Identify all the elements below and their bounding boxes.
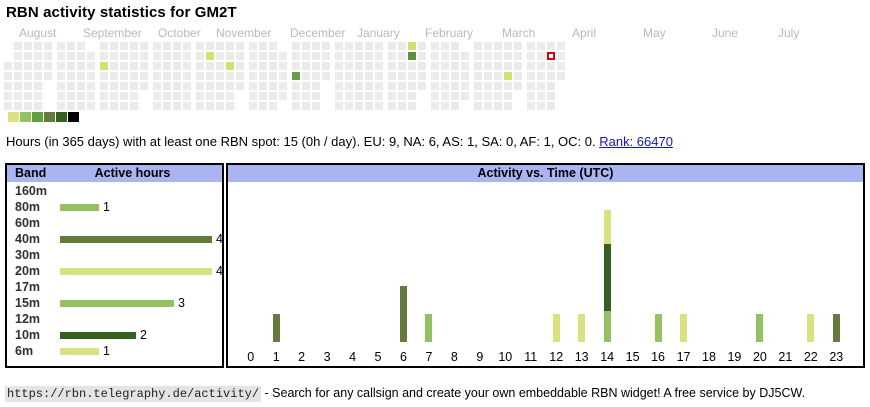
heatmap-cell[interactable]: [365, 72, 373, 80]
heatmap-cell[interactable]: [206, 62, 214, 70]
heatmap-cell[interactable]: [24, 42, 32, 50]
heatmap-cell[interactable]: [183, 92, 191, 100]
heatmap-cell[interactable]: [130, 42, 138, 50]
heatmap-cell[interactable]: [388, 62, 396, 70]
heatmap-cell[interactable]: [474, 82, 482, 90]
heatmap-cell[interactable]: [67, 72, 75, 80]
heatmap-cell[interactable]: [504, 102, 512, 110]
heatmap-cell[interactable]: [484, 52, 492, 60]
heatmap-cell[interactable]: [183, 52, 191, 60]
heatmap-cell[interactable]: [345, 92, 353, 100]
heatmap-cell[interactable]: [67, 42, 75, 50]
heatmap-cell[interactable]: [527, 52, 535, 60]
heatmap-cell[interactable]: [226, 52, 234, 60]
heatmap-cell[interactable]: [302, 82, 310, 90]
heatmap-cell[interactable]: [183, 72, 191, 80]
heatmap-cell[interactable]: [398, 52, 406, 60]
heatmap-cell[interactable]: [206, 82, 214, 90]
heatmap-cell[interactable]: [44, 52, 52, 60]
heatmap-cell[interactable]: [110, 102, 118, 110]
heatmap-cell[interactable]: [110, 72, 118, 80]
heatmap-cell[interactable]: [474, 52, 482, 60]
heatmap-cell[interactable]: [302, 102, 310, 110]
heatmap-cell[interactable]: [173, 62, 181, 70]
heatmap-cell[interactable]: [67, 62, 75, 70]
heatmap-cell[interactable]: [375, 42, 383, 50]
heatmap-grid[interactable]: [0, 42, 870, 104]
heatmap-cell[interactable]: [226, 62, 234, 70]
heatmap-cell[interactable]: [398, 102, 406, 110]
heatmap-cell[interactable]: [527, 102, 535, 110]
heatmap-cell[interactable]: [504, 42, 512, 50]
heatmap-cell[interactable]: [173, 92, 181, 100]
activity-bar[interactable]: [655, 314, 662, 342]
heatmap-cell[interactable]: [484, 82, 492, 90]
heatmap-cell[interactable]: [345, 62, 353, 70]
heatmap-cell[interactable]: [67, 92, 75, 100]
heatmap-cell[interactable]: [418, 52, 426, 60]
heatmap-cell[interactable]: [206, 102, 214, 110]
heatmap-cell[interactable]: [398, 82, 406, 90]
heatmap-cell[interactable]: [67, 52, 75, 60]
heatmap-cell[interactable]: [236, 72, 244, 80]
heatmap-cell[interactable]: [504, 92, 512, 100]
heatmap-cell[interactable]: [216, 102, 224, 110]
heatmap-cell[interactable]: [216, 82, 224, 90]
heatmap-cell[interactable]: [153, 42, 161, 50]
heatmap-cell[interactable]: [335, 92, 343, 100]
heatmap-cell[interactable]: [269, 42, 277, 50]
heatmap-cell[interactable]: [408, 82, 416, 90]
heatmap-cell[interactable]: [140, 82, 148, 90]
heatmap-cell[interactable]: [335, 102, 343, 110]
heatmap-cell[interactable]: [120, 102, 128, 110]
heatmap-cell[interactable]: [249, 72, 257, 80]
heatmap-cell[interactable]: [537, 62, 545, 70]
heatmap-cell[interactable]: [302, 42, 310, 50]
heatmap-cell[interactable]: [355, 62, 363, 70]
heatmap-cell[interactable]: [183, 42, 191, 50]
heatmap-cell[interactable]: [4, 102, 12, 110]
heatmap-cell[interactable]: [130, 102, 138, 110]
heatmap-cell[interactable]: [312, 62, 320, 70]
heatmap-cell[interactable]: [279, 82, 287, 90]
heatmap-cell[interactable]: [130, 92, 138, 100]
heatmap-cell[interactable]: [451, 72, 459, 80]
heatmap-cell[interactable]: [259, 62, 267, 70]
heatmap-cell[interactable]: [345, 72, 353, 80]
heatmap-cell[interactable]: [441, 102, 449, 110]
heatmap-cell[interactable]: [418, 82, 426, 90]
heatmap-cell[interactable]: [335, 72, 343, 80]
rank-link[interactable]: Rank: 66470: [599, 134, 673, 149]
heatmap-cell[interactable]: [431, 62, 439, 70]
activity-bar[interactable]: [833, 314, 840, 342]
activity-bar[interactable]: [425, 314, 432, 342]
heatmap-cell[interactable]: [140, 42, 148, 50]
heatmap-cell[interactable]: [34, 102, 42, 110]
heatmap-cell[interactable]: [216, 42, 224, 50]
heatmap-cell[interactable]: [120, 42, 128, 50]
heatmap-cell[interactable]: [236, 52, 244, 60]
heatmap-cell[interactable]: [153, 102, 161, 110]
heatmap-cell[interactable]: [4, 92, 12, 100]
heatmap-cell[interactable]: [484, 92, 492, 100]
heatmap-cell[interactable]: [87, 82, 95, 90]
heatmap-cell[interactable]: [226, 82, 234, 90]
heatmap-cell[interactable]: [14, 102, 22, 110]
heatmap-cell[interactable]: [514, 72, 522, 80]
heatmap-cell[interactable]: [14, 42, 22, 50]
heatmap-cell[interactable]: [504, 82, 512, 90]
heatmap-cell[interactable]: [408, 102, 416, 110]
heatmap-cell[interactable]: [345, 52, 353, 60]
heatmap-cell[interactable]: [537, 42, 545, 50]
heatmap-cell[interactable]: [355, 52, 363, 60]
heatmap-cell[interactable]: [441, 92, 449, 100]
heatmap-cell[interactable]: [206, 52, 214, 60]
heatmap-cell[interactable]: [14, 72, 22, 80]
heatmap-cell[interactable]: [451, 42, 459, 50]
heatmap-cell[interactable]: [388, 92, 396, 100]
heatmap-cell[interactable]: [249, 62, 257, 70]
heatmap-cell[interactable]: [24, 72, 32, 80]
heatmap-cell[interactable]: [484, 62, 492, 70]
heatmap-cell[interactable]: [130, 82, 138, 90]
heatmap-cell[interactable]: [269, 62, 277, 70]
heatmap-cell[interactable]: [375, 102, 383, 110]
heatmap-cell[interactable]: [173, 102, 181, 110]
heatmap-cell[interactable]: [120, 82, 128, 90]
heatmap-cell[interactable]: [302, 72, 310, 80]
heatmap-cell[interactable]: [302, 62, 310, 70]
heatmap-cell[interactable]: [34, 92, 42, 100]
heatmap-cell[interactable]: [494, 102, 502, 110]
heatmap-cell[interactable]: [355, 72, 363, 80]
heatmap-cell[interactable]: [44, 72, 52, 80]
heatmap-cell[interactable]: [153, 92, 161, 100]
heatmap-cell[interactable]: [388, 72, 396, 80]
heatmap-cell[interactable]: [312, 82, 320, 90]
heatmap-cell[interactable]: [120, 72, 128, 80]
heatmap-cell[interactable]: [312, 92, 320, 100]
heatmap-cell[interactable]: [547, 62, 555, 70]
heatmap-cell[interactable]: [110, 82, 118, 90]
heatmap-cell[interactable]: [398, 62, 406, 70]
heatmap-cell[interactable]: [474, 42, 482, 50]
heatmap-cell[interactable]: [4, 62, 12, 70]
heatmap-cell[interactable]: [87, 72, 95, 80]
heatmap-cell[interactable]: [474, 62, 482, 70]
activity-bar[interactable]: [680, 314, 687, 342]
heatmap-cell[interactable]: [87, 52, 95, 60]
heatmap-cell[interactable]: [474, 102, 482, 110]
heatmap-cell[interactable]: [100, 42, 108, 50]
heatmap-cell[interactable]: [173, 72, 181, 80]
heatmap-cell[interactable]: [322, 52, 330, 60]
heatmap-cell[interactable]: [461, 92, 469, 100]
heatmap-cell[interactable]: [226, 72, 234, 80]
heatmap-cell[interactable]: [484, 42, 492, 50]
heatmap-cell[interactable]: [173, 42, 181, 50]
heatmap-cell[interactable]: [259, 92, 267, 100]
heatmap-cell[interactable]: [355, 92, 363, 100]
heatmap-cell[interactable]: [418, 42, 426, 50]
heatmap-cell[interactable]: [335, 52, 343, 60]
heatmap-cell[interactable]: [504, 62, 512, 70]
heatmap-cell[interactable]: [527, 82, 535, 90]
heatmap-cell[interactable]: [87, 92, 95, 100]
heatmap-cell[interactable]: [279, 52, 287, 60]
heatmap-cell[interactable]: [249, 52, 257, 60]
heatmap-cell[interactable]: [140, 62, 148, 70]
heatmap-cell[interactable]: [153, 52, 161, 60]
heatmap-cell[interactable]: [216, 92, 224, 100]
heatmap-cell[interactable]: [557, 72, 565, 80]
heatmap-cell[interactable]: [216, 62, 224, 70]
heatmap-cell[interactable]: [77, 62, 85, 70]
heatmap-cell[interactable]: [388, 82, 396, 90]
heatmap-cell[interactable]: [100, 82, 108, 90]
heatmap-cell[interactable]: [77, 102, 85, 110]
heatmap-cell[interactable]: [259, 52, 267, 60]
heatmap-cell[interactable]: [335, 82, 343, 90]
heatmap-cell[interactable]: [249, 92, 257, 100]
heatmap-cell[interactable]: [322, 42, 330, 50]
heatmap-cell[interactable]: [461, 72, 469, 80]
heatmap-cell[interactable]: [120, 52, 128, 60]
heatmap-cell[interactable]: [130, 72, 138, 80]
heatmap-cell[interactable]: [494, 42, 502, 50]
heatmap-cell[interactable]: [494, 52, 502, 60]
heatmap-cell[interactable]: [398, 92, 406, 100]
heatmap-cell[interactable]: [34, 42, 42, 50]
heatmap-cell[interactable]: [494, 62, 502, 70]
heatmap-cell[interactable]: [236, 42, 244, 50]
heatmap-cell[interactable]: [398, 72, 406, 80]
heatmap-cell[interactable]: [292, 72, 300, 80]
heatmap-cell[interactable]: [24, 102, 32, 110]
heatmap-cell[interactable]: [388, 42, 396, 50]
heatmap-cell[interactable]: [77, 82, 85, 90]
heatmap-cell[interactable]: [388, 52, 396, 60]
heatmap-cell[interactable]: [441, 42, 449, 50]
heatmap-cell[interactable]: [269, 92, 277, 100]
heatmap-cell[interactable]: [77, 92, 85, 100]
heatmap-cell[interactable]: [57, 102, 65, 110]
heatmap-cell[interactable]: [355, 42, 363, 50]
heatmap-cell[interactable]: [557, 52, 565, 60]
heatmap-cell[interactable]: [24, 52, 32, 60]
heatmap-cell[interactable]: [461, 52, 469, 60]
heatmap-cell[interactable]: [14, 92, 22, 100]
heatmap-cell[interactable]: [196, 52, 204, 60]
heatmap-cell[interactable]: [24, 62, 32, 70]
heatmap-cell[interactable]: [365, 62, 373, 70]
heatmap-cell[interactable]: [312, 42, 320, 50]
heatmap-cell[interactable]: [163, 62, 171, 70]
heatmap-cell[interactable]: [365, 102, 373, 110]
heatmap-cell[interactable]: [279, 62, 287, 70]
heatmap-cell[interactable]: [216, 52, 224, 60]
heatmap-cell[interactable]: [206, 72, 214, 80]
heatmap-cell[interactable]: [34, 52, 42, 60]
heatmap-cell[interactable]: [312, 72, 320, 80]
heatmap-cell[interactable]: [365, 52, 373, 60]
heatmap-cell[interactable]: [196, 82, 204, 90]
heatmap-cell[interactable]: [547, 72, 555, 80]
heatmap-cell[interactable]: [537, 72, 545, 80]
heatmap-cell[interactable]: [408, 42, 416, 50]
heatmap-cell[interactable]: [312, 52, 320, 60]
heatmap-cell[interactable]: [494, 92, 502, 100]
heatmap-cell[interactable]: [527, 42, 535, 50]
heatmap-cell[interactable]: [494, 82, 502, 90]
heatmap-cell[interactable]: [249, 82, 257, 90]
heatmap-cell[interactable]: [206, 92, 214, 100]
heatmap-cell[interactable]: [269, 82, 277, 90]
heatmap-cell[interactable]: [418, 72, 426, 80]
heatmap-cell[interactable]: [87, 62, 95, 70]
heatmap-cell[interactable]: [375, 92, 383, 100]
heatmap-cell[interactable]: [120, 62, 128, 70]
heatmap-cell[interactable]: [365, 82, 373, 90]
heatmap-cell[interactable]: [514, 82, 522, 90]
heatmap-cell[interactable]: [494, 72, 502, 80]
heatmap-cell[interactable]: [44, 42, 52, 50]
heatmap-cell[interactable]: [527, 72, 535, 80]
heatmap-cell[interactable]: [302, 52, 310, 60]
heatmap-cell[interactable]: [269, 102, 277, 110]
heatmap-cell[interactable]: [312, 102, 320, 110]
heatmap-cell[interactable]: [504, 52, 512, 60]
heatmap-cell[interactable]: [173, 82, 181, 90]
heatmap-cell[interactable]: [24, 82, 32, 90]
heatmap-cell[interactable]: [431, 82, 439, 90]
heatmap-cell[interactable]: [537, 92, 545, 100]
heatmap-cell[interactable]: [183, 102, 191, 110]
heatmap-cell[interactable]: [398, 42, 406, 50]
heatmap-cell[interactable]: [226, 42, 234, 50]
heatmap-cell[interactable]: [67, 102, 75, 110]
heatmap-cell[interactable]: [514, 52, 522, 60]
heatmap-cell[interactable]: [527, 62, 535, 70]
heatmap-cell[interactable]: [408, 72, 416, 80]
heatmap-cell[interactable]: [388, 102, 396, 110]
heatmap-cell[interactable]: [418, 62, 426, 70]
activity-bar[interactable]: [553, 314, 560, 342]
heatmap-cell[interactable]: [100, 62, 108, 70]
heatmap-cell[interactable]: [34, 72, 42, 80]
heatmap-cell[interactable]: [153, 82, 161, 90]
heatmap-cell-today[interactable]: [547, 52, 555, 60]
heatmap-cell[interactable]: [269, 52, 277, 60]
heatmap-cell[interactable]: [259, 42, 267, 50]
heatmap-cell[interactable]: [451, 82, 459, 90]
heatmap-cell[interactable]: [163, 102, 171, 110]
heatmap-cell[interactable]: [163, 72, 171, 80]
heatmap-cell[interactable]: [557, 62, 565, 70]
heatmap-cell[interactable]: [249, 102, 257, 110]
heatmap-cell[interactable]: [100, 72, 108, 80]
heatmap-cell[interactable]: [269, 72, 277, 80]
heatmap-cell[interactable]: [375, 52, 383, 60]
heatmap-cell[interactable]: [547, 42, 555, 50]
heatmap-cell[interactable]: [292, 102, 300, 110]
heatmap-cell[interactable]: [547, 102, 555, 110]
footer-url[interactable]: https://rbn.telegraphy.de/activity/: [5, 386, 261, 402]
heatmap-cell[interactable]: [345, 42, 353, 50]
heatmap-cell[interactable]: [57, 42, 65, 50]
heatmap-cell[interactable]: [461, 62, 469, 70]
heatmap-cell[interactable]: [375, 82, 383, 90]
heatmap-cell[interactable]: [130, 52, 138, 60]
heatmap-cell[interactable]: [355, 82, 363, 90]
heatmap-cell[interactable]: [216, 72, 224, 80]
heatmap-cell[interactable]: [140, 52, 148, 60]
heatmap-cell[interactable]: [431, 52, 439, 60]
heatmap-cell[interactable]: [120, 92, 128, 100]
heatmap-cell[interactable]: [431, 42, 439, 50]
heatmap-cell[interactable]: [557, 42, 565, 50]
heatmap-cell[interactable]: [57, 52, 65, 60]
heatmap-cell[interactable]: [196, 62, 204, 70]
heatmap-cell[interactable]: [292, 92, 300, 100]
heatmap-cell[interactable]: [57, 82, 65, 90]
heatmap-cell[interactable]: [100, 102, 108, 110]
heatmap-cell[interactable]: [14, 62, 22, 70]
heatmap-cell[interactable]: [292, 82, 300, 90]
heatmap-cell[interactable]: [292, 62, 300, 70]
heatmap-cell[interactable]: [14, 52, 22, 60]
heatmap-cell[interactable]: [335, 62, 343, 70]
heatmap-cell[interactable]: [335, 42, 343, 50]
activity-bar[interactable]: [807, 314, 814, 342]
heatmap-cell[interactable]: [4, 82, 12, 90]
activity-bar[interactable]: [578, 314, 585, 342]
heatmap-cell[interactable]: [163, 92, 171, 100]
heatmap-cell[interactable]: [451, 102, 459, 110]
heatmap-cell[interactable]: [461, 82, 469, 90]
heatmap-cell[interactable]: [110, 42, 118, 50]
heatmap-cell[interactable]: [226, 102, 234, 110]
heatmap-cell[interactable]: [140, 72, 148, 80]
heatmap-cell[interactable]: [259, 72, 267, 80]
heatmap-cell[interactable]: [527, 92, 535, 100]
heatmap-cell[interactable]: [514, 62, 522, 70]
activity-bar[interactable]: [400, 286, 407, 342]
heatmap-cell[interactable]: [87, 102, 95, 110]
heatmap-cell[interactable]: [249, 42, 257, 50]
heatmap-cell[interactable]: [206, 42, 214, 50]
heatmap-cell[interactable]: [441, 52, 449, 60]
heatmap-cell[interactable]: [514, 42, 522, 50]
heatmap-cell[interactable]: [547, 82, 555, 90]
heatmap-cell[interactable]: [484, 72, 492, 80]
activity-bar[interactable]: [756, 314, 763, 342]
heatmap-cell[interactable]: [451, 52, 459, 60]
heatmap-cell[interactable]: [279, 72, 287, 80]
heatmap-cell[interactable]: [451, 92, 459, 100]
heatmap-cell[interactable]: [57, 72, 65, 80]
heatmap-cell[interactable]: [537, 102, 545, 110]
heatmap-cell[interactable]: [365, 92, 373, 100]
heatmap-cell[interactable]: [279, 92, 287, 100]
heatmap-cell[interactable]: [77, 72, 85, 80]
heatmap-cell[interactable]: [14, 82, 22, 90]
heatmap-cell[interactable]: [431, 92, 439, 100]
heatmap-cell[interactable]: [365, 42, 373, 50]
